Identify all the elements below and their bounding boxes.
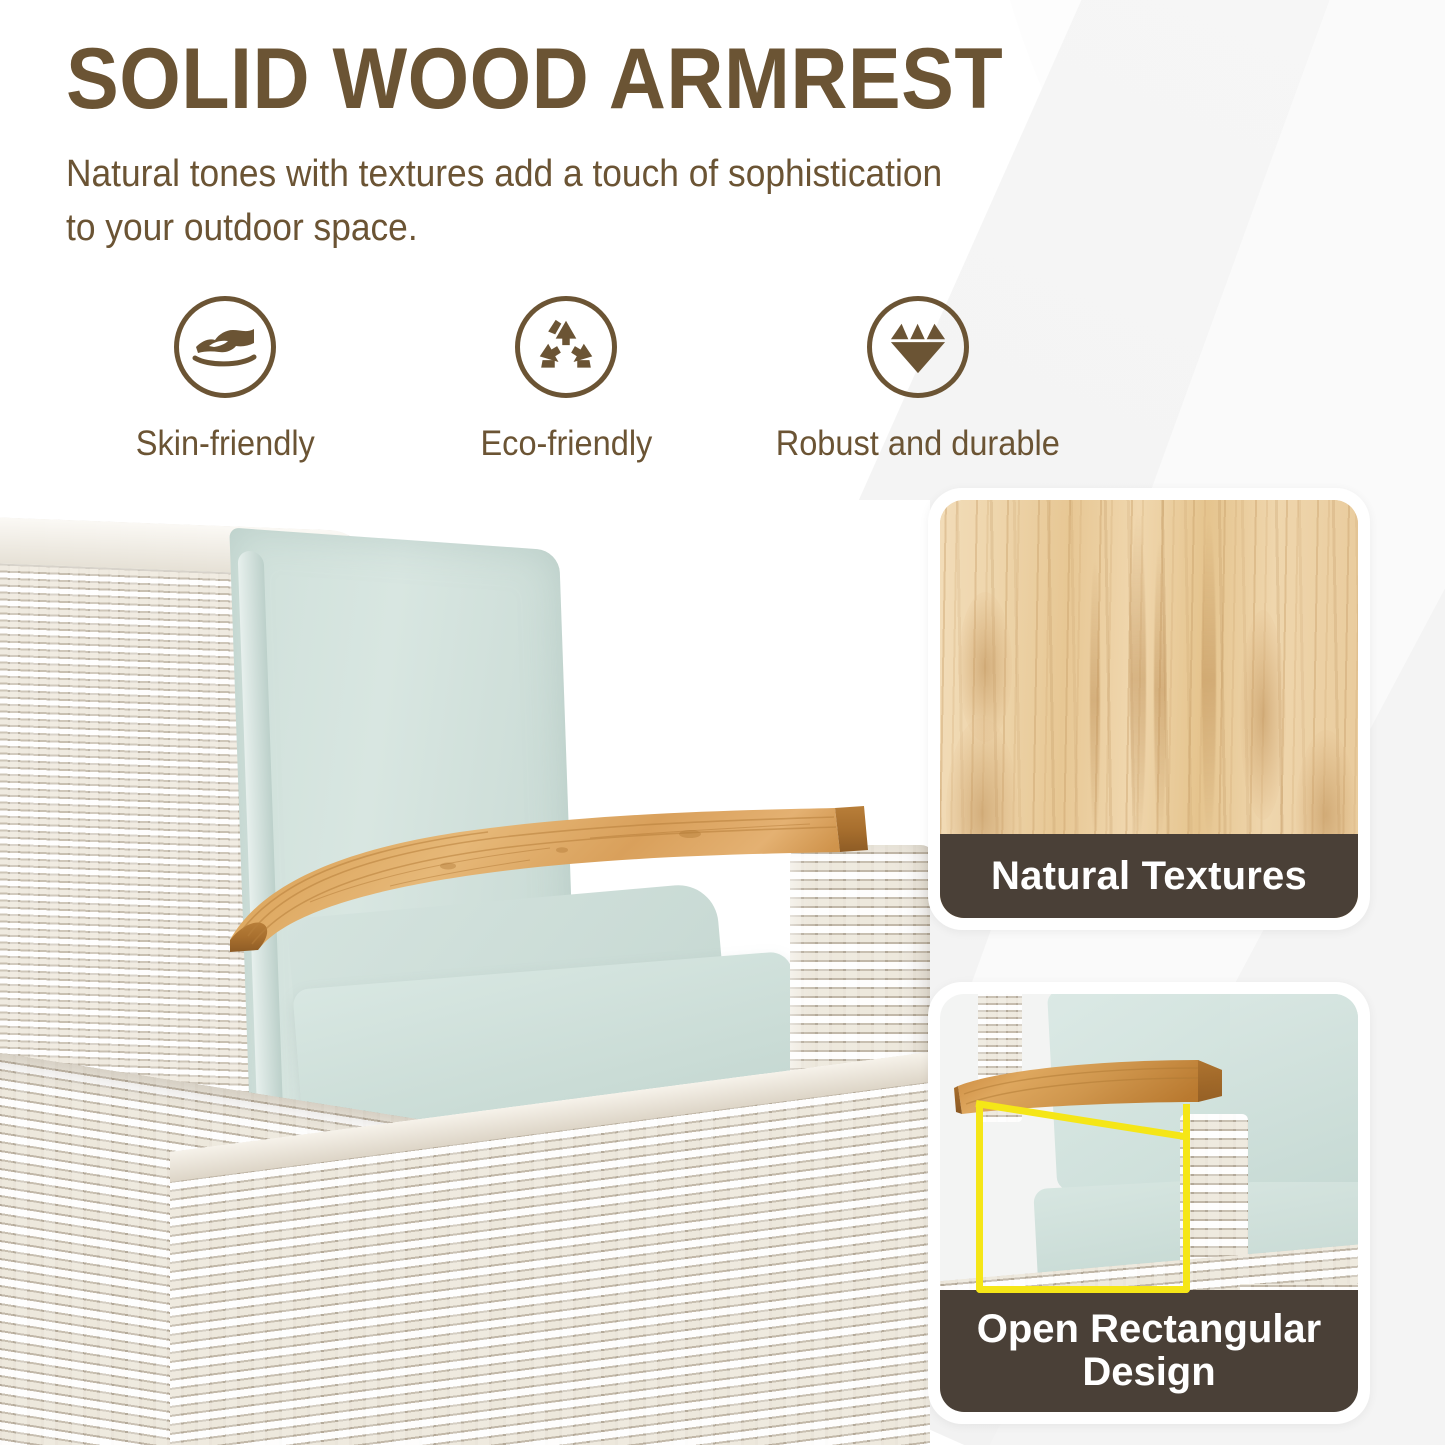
main-product-photo (0, 500, 930, 1445)
wood-streak (1202, 520, 1216, 840)
card-media: Natural Textures (940, 500, 1358, 918)
feature-eco-friendly: Eco-friendly (384, 296, 748, 464)
card-caption-line-2: Design (1082, 1351, 1215, 1394)
card-media: Open Rectangular Design (940, 994, 1358, 1412)
wood-armrest (190, 790, 870, 960)
recycle-icon (515, 296, 617, 398)
card-caption: Open Rectangular Design (940, 1290, 1358, 1412)
feature-label: Skin-friendly (135, 424, 314, 464)
wood-streak (1130, 514, 1146, 844)
header-block: SOLID WOOD ARMREST Natural tones with te… (66, 36, 1186, 256)
poster-canvas: SOLID WOOD ARMREST Natural tones with te… (0, 0, 1445, 1445)
card-caption-text: Natural Textures (991, 854, 1307, 899)
page-title: SOLID WOOD ARMREST (66, 36, 1096, 122)
card-caption: Natural Textures (940, 834, 1358, 918)
feature-label: Eco-friendly (480, 424, 652, 464)
subtitle-line-1: Natural tones with textures add a touch … (66, 148, 1108, 202)
feature-badge-row: Skin-friendly (66, 296, 1088, 464)
wood-knot (1240, 610, 1286, 820)
feature-robust-durable: Robust and durable (748, 296, 1088, 464)
page-subtitle: Natural tones with textures add a touch … (66, 148, 1108, 256)
feature-skin-friendly: Skin-friendly (66, 296, 384, 464)
diamond-icon (867, 296, 969, 398)
callout-card-open-rectangular-design[interactable]: Open Rectangular Design (928, 982, 1370, 1424)
callout-card-natural-textures[interactable]: Natural Textures (928, 488, 1370, 930)
subtitle-line-2: to your outdoor space. (66, 202, 1108, 256)
wood-streak (1154, 540, 1166, 840)
wood-streak (1090, 560, 1100, 840)
card-caption-line-1: Open Rectangular (977, 1308, 1322, 1351)
feature-label: Robust and durable (776, 424, 1060, 464)
hand-smooth-surface-icon (174, 296, 276, 398)
